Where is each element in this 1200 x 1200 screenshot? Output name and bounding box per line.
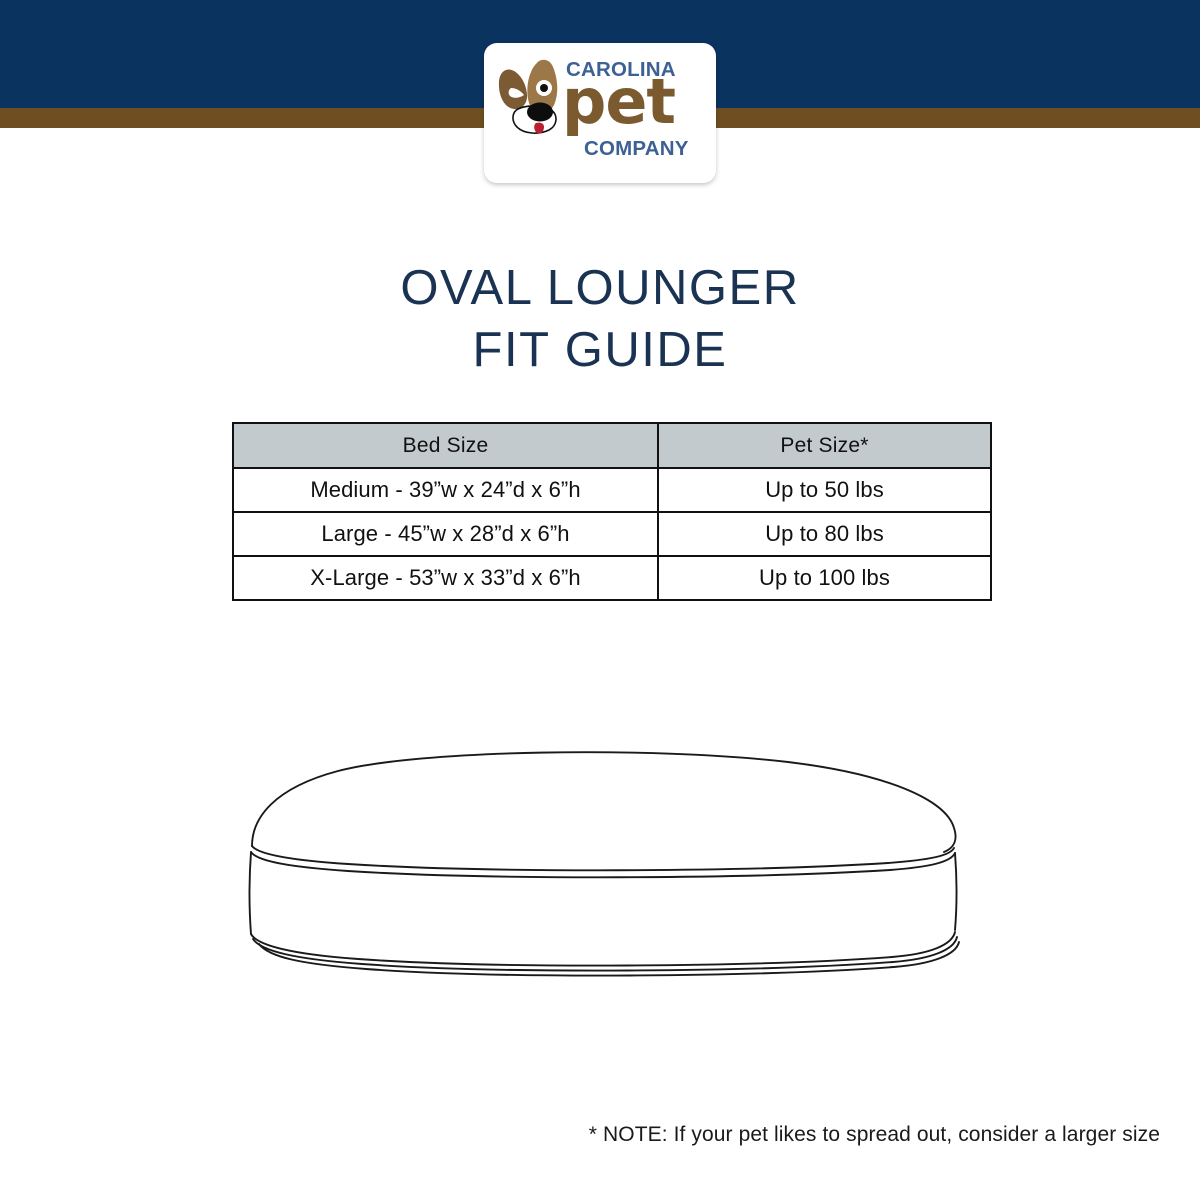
cell-pet-size: Up to 100 lbs: [658, 556, 991, 600]
dog-head-icon: [496, 57, 572, 137]
table-row: Medium - 39”w x 24”d x 6”h Up to 50 lbs: [233, 468, 991, 512]
cell-bed-size: Large - 45”w x 28”d x 6”h: [233, 512, 658, 556]
fit-guide-table: Bed Size Pet Size* Medium - 39”w x 24”d …: [232, 422, 992, 601]
table-row: Large - 45”w x 28”d x 6”h Up to 80 lbs: [233, 512, 991, 556]
cell-pet-size: Up to 80 lbs: [658, 512, 991, 556]
cell-pet-size: Up to 50 lbs: [658, 468, 991, 512]
page-title-line-1: OVAL LOUNGER: [0, 257, 1200, 319]
cell-bed-size: X-Large - 53”w x 33”d x 6”h: [233, 556, 658, 600]
page-title: OVAL LOUNGER FIT GUIDE: [0, 257, 1200, 381]
cell-bed-size: Medium - 39”w x 24”d x 6”h: [233, 468, 658, 512]
column-header-pet-size: Pet Size*: [658, 423, 991, 468]
logo-card[interactable]: CAROLINA pet COMPANY: [484, 43, 716, 183]
page-title-line-2: FIT GUIDE: [0, 319, 1200, 381]
logo-inner: CAROLINA pet COMPANY: [484, 43, 716, 183]
logo-text-company: COMPANY: [584, 139, 689, 160]
logo-text-pet: pet: [562, 71, 675, 133]
table-row: X-Large - 53”w x 33”d x 6”h Up to 100 lb…: [233, 556, 991, 600]
footnote-note: * NOTE: If your pet likes to spread out,…: [0, 1123, 1160, 1147]
table-header-row: Bed Size Pet Size*: [233, 423, 991, 468]
logo-wordmark: CAROLINA pet COMPANY: [562, 53, 712, 173]
column-header-bed-size: Bed Size: [233, 423, 658, 468]
oval-lounger-bed-drawing: [228, 748, 976, 980]
